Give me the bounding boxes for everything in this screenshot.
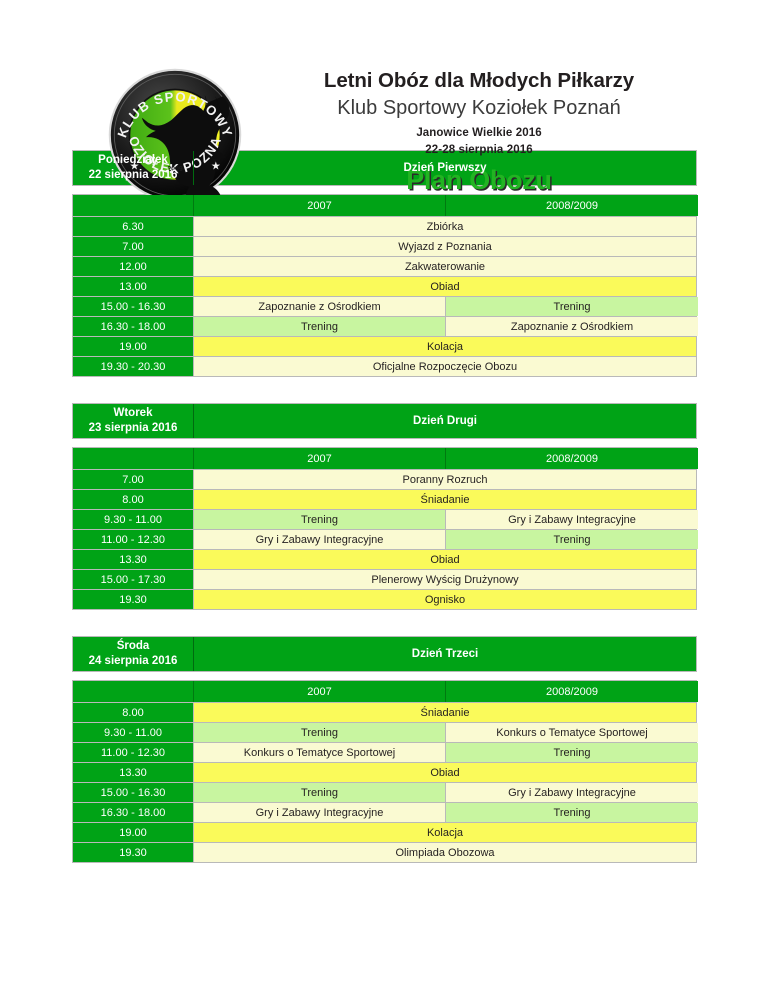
schedule-activity-group-b: Konkurs o Tematyce Sportowej xyxy=(446,723,698,742)
schedule-row: 19.00Kolacja xyxy=(73,337,696,357)
schedule-activity: Olimpiada Obozowa xyxy=(194,843,696,862)
day-ordinal-label: Dzień Pierwszy xyxy=(194,151,696,185)
schedule-time: 11.00 - 12.30 xyxy=(73,530,194,549)
schedule-activity: Obiad xyxy=(194,763,696,782)
schedule-row: 16.30 - 18.00Gry i Zabawy IntegracyjneTr… xyxy=(73,803,696,823)
schedule-row: 9.30 - 11.00TreningGry i Zabawy Integrac… xyxy=(73,510,696,530)
schedule-activity-group-a: Trening xyxy=(194,317,446,336)
schedule-row: 15.00 - 17.30Plenerowy Wyścig Drużynowy xyxy=(73,570,696,590)
day-schedule-table: 20072008/20098.00Śniadanie9.30 - 11.00Tr… xyxy=(72,680,697,863)
schedule-row: 19.30Olimpiada Obozowa xyxy=(73,843,696,863)
page-header: KLUB SPORTOWY KOZIOŁEK POZNAŃ ★ ★ 2009 L… xyxy=(0,0,768,150)
column-header-time xyxy=(73,195,194,216)
column-header-group-b: 2008/2009 xyxy=(446,195,698,216)
column-header-group-a: 2007 xyxy=(194,448,446,469)
day-header: Wtorek23 sierpnia 2016Dzień Drugi xyxy=(72,403,697,439)
camp-location: Janowice Wielkie 2016 xyxy=(260,125,698,142)
schedule-time: 16.30 - 18.00 xyxy=(73,317,194,336)
schedule-row: 8.00Śniadanie xyxy=(73,490,696,510)
schedule-activity-group-b: Trening xyxy=(446,530,698,549)
schedule-time: 15.00 - 17.30 xyxy=(73,570,194,589)
day-ordinal-label: Dzień Trzeci xyxy=(194,637,696,671)
column-header-time xyxy=(73,681,194,702)
schedule-time: 19.00 xyxy=(73,337,194,356)
schedule-activity: Kolacja xyxy=(194,823,696,842)
day-block: Poniedziałek22 sierpnia 2016Dzień Pierws… xyxy=(72,150,697,377)
day-date: Poniedziałek22 sierpnia 2016 xyxy=(73,151,194,185)
schedule-time: 7.00 xyxy=(73,470,194,489)
schedule-time: 11.00 - 12.30 xyxy=(73,743,194,762)
schedule-row: 11.00 - 12.30Gry i Zabawy IntegracyjneTr… xyxy=(73,530,696,550)
schedule-row: 19.30 - 20.30Oficjalne Rozpoczęcie Obozu xyxy=(73,357,696,377)
schedule-activity: Kolacja xyxy=(194,337,696,356)
day-schedule-table: 20072008/20097.00Poranny Rozruch8.00Śnia… xyxy=(72,447,697,610)
schedule-row: 19.00Kolacja xyxy=(73,823,696,843)
schedule-activity-group-b: Gry i Zabawy Integracyjne xyxy=(446,783,698,802)
schedule-activity: Poranny Rozruch xyxy=(194,470,696,489)
column-header-group-a: 2007 xyxy=(194,195,446,216)
schedule-container: Poniedziałek22 sierpnia 2016Dzień Pierws… xyxy=(72,150,697,863)
schedule-time: 8.00 xyxy=(73,490,194,509)
schedule-activity: Obiad xyxy=(194,550,696,569)
schedule-activity-group-a: Konkurs o Tematyce Sportowej xyxy=(194,743,446,762)
schedule-time: 19.30 xyxy=(73,843,194,862)
column-header-row: 20072008/2009 xyxy=(73,681,696,703)
schedule-time: 19.30 xyxy=(73,590,194,609)
schedule-time: 13.30 xyxy=(73,763,194,782)
schedule-time: 19.00 xyxy=(73,823,194,842)
schedule-row: 7.00Wyjazd z Poznania xyxy=(73,237,696,257)
schedule-time: 15.00 - 16.30 xyxy=(73,297,194,316)
schedule-time: 13.00 xyxy=(73,277,194,296)
schedule-activity-group-a: Trening xyxy=(194,723,446,742)
column-header-time xyxy=(73,448,194,469)
schedule-time: 12.00 xyxy=(73,257,194,276)
club-name: Klub Sportowy Koziołek Poznań xyxy=(260,95,698,121)
schedule-row: 15.00 - 16.30Zapoznanie z OśrodkiemTreni… xyxy=(73,297,696,317)
schedule-activity-group-b: Gry i Zabawy Integracyjne xyxy=(446,510,698,529)
schedule-row: 7.00Poranny Rozruch xyxy=(73,470,696,490)
day-block: Środa24 sierpnia 2016Dzień Trzeci2007200… xyxy=(72,636,697,863)
schedule-activity: Śniadanie xyxy=(194,490,696,509)
schedule-activity: Wyjazd z Poznania xyxy=(194,237,696,256)
schedule-time: 16.30 - 18.00 xyxy=(73,803,194,822)
day-date-text: 22 sierpnia 2016 xyxy=(89,168,178,183)
schedule-time: 19.30 - 20.30 xyxy=(73,357,194,376)
schedule-time: 7.00 xyxy=(73,237,194,256)
day-weekday: Środa xyxy=(117,639,150,654)
schedule-row: 8.00Śniadanie xyxy=(73,703,696,723)
schedule-activity-group-a: Trening xyxy=(194,510,446,529)
schedule-time: 9.30 - 11.00 xyxy=(73,510,194,529)
day-date: Wtorek23 sierpnia 2016 xyxy=(73,404,194,438)
schedule-row: 16.30 - 18.00TreningZapoznanie z Ośrodki… xyxy=(73,317,696,337)
schedule-row: 12.00Zakwaterowanie xyxy=(73,257,696,277)
day-date-text: 23 sierpnia 2016 xyxy=(89,421,178,436)
schedule-activity: Oficjalne Rozpoczęcie Obozu xyxy=(194,357,696,376)
schedule-time: 15.00 - 16.30 xyxy=(73,783,194,802)
schedule-activity: Zbiórka xyxy=(194,217,696,236)
schedule-activity-group-b: Trening xyxy=(446,743,698,762)
schedule-activity-group-a: Trening xyxy=(194,783,446,802)
day-weekday: Poniedziałek xyxy=(98,153,168,168)
schedule-time: 13.30 xyxy=(73,550,194,569)
schedule-activity-group-a: Zapoznanie z Ośrodkiem xyxy=(194,297,446,316)
page-title: Letni Obóz dla Młodych Piłkarzy xyxy=(260,68,698,93)
day-block: Wtorek23 sierpnia 2016Dzień Drugi2007200… xyxy=(72,403,697,610)
schedule-row: 6.30Zbiórka xyxy=(73,217,696,237)
column-header-row: 20072008/2009 xyxy=(73,448,696,470)
column-header-row: 20072008/2009 xyxy=(73,195,696,217)
schedule-time: 6.30 xyxy=(73,217,194,236)
schedule-time: 9.30 - 11.00 xyxy=(73,723,194,742)
schedule-activity-group-a: Gry i Zabawy Integracyjne xyxy=(194,803,446,822)
schedule-activity: Ognisko xyxy=(194,590,696,609)
day-ordinal-label: Dzień Drugi xyxy=(194,404,696,438)
schedule-time: 8.00 xyxy=(73,703,194,722)
schedule-activity: Obiad xyxy=(194,277,696,296)
day-date-text: 24 sierpnia 2016 xyxy=(89,654,178,669)
day-schedule-table: 20072008/20096.30Zbiórka7.00Wyjazd z Poz… xyxy=(72,194,697,377)
schedule-activity-group-a: Gry i Zabawy Integracyjne xyxy=(194,530,446,549)
schedule-row: 13.30Obiad xyxy=(73,763,696,783)
schedule-row: 13.00Obiad xyxy=(73,277,696,297)
schedule-activity: Plenerowy Wyścig Drużynowy xyxy=(194,570,696,589)
column-header-group-b: 2008/2009 xyxy=(446,681,698,702)
schedule-row: 11.00 - 12.30Konkurs o Tematyce Sportowe… xyxy=(73,743,696,763)
schedule-activity: Śniadanie xyxy=(194,703,696,722)
schedule-row: 9.30 - 11.00TreningKonkurs o Tematyce Sp… xyxy=(73,723,696,743)
schedule-row: 19.30Ognisko xyxy=(73,590,696,610)
schedule-activity: Zakwaterowanie xyxy=(194,257,696,276)
day-date: Środa24 sierpnia 2016 xyxy=(73,637,194,671)
schedule-activity-group-b: Zapoznanie z Ośrodkiem xyxy=(446,317,698,336)
day-header: Środa24 sierpnia 2016Dzień Trzeci xyxy=(72,636,697,672)
day-header: Poniedziałek22 sierpnia 2016Dzień Pierws… xyxy=(72,150,697,186)
column-header-group-a: 2007 xyxy=(194,681,446,702)
schedule-activity-group-b: Trening xyxy=(446,803,698,822)
column-header-group-b: 2008/2009 xyxy=(446,448,698,469)
day-weekday: Wtorek xyxy=(114,406,153,421)
schedule-row: 15.00 - 16.30TreningGry i Zabawy Integra… xyxy=(73,783,696,803)
schedule-row: 13.30Obiad xyxy=(73,550,696,570)
schedule-activity-group-b: Trening xyxy=(446,297,698,316)
